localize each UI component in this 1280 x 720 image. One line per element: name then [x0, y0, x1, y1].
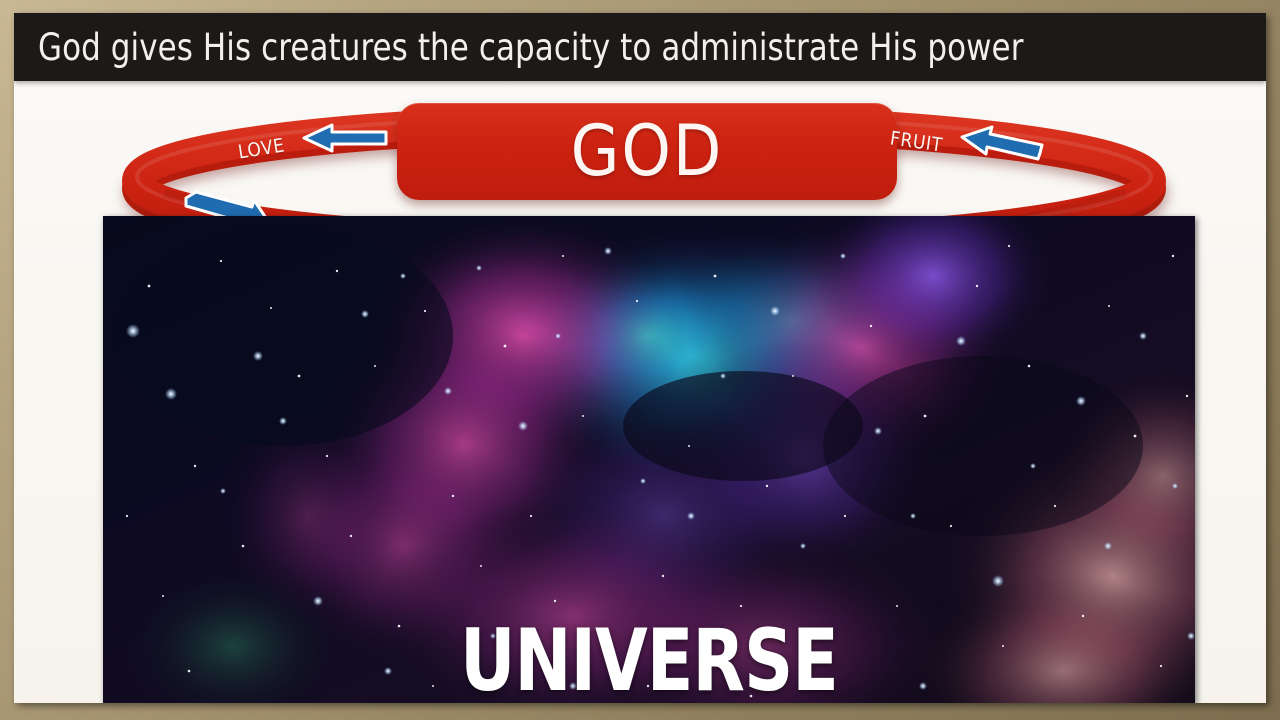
slide-frame: God gives His creatures the capacity to … — [0, 0, 1280, 720]
slide-canvas: God gives His creatures the capacity to … — [14, 13, 1266, 703]
god-label: GOD — [397, 115, 897, 187]
slide-title: God gives His creatures the capacity to … — [38, 26, 1024, 70]
title-bar: God gives His creatures the capacity to … — [14, 13, 1266, 81]
universe-image: UNIVERSE — [103, 216, 1195, 703]
god-box: GOD — [397, 103, 897, 200]
universe-caption: UNIVERSE — [169, 615, 1130, 703]
